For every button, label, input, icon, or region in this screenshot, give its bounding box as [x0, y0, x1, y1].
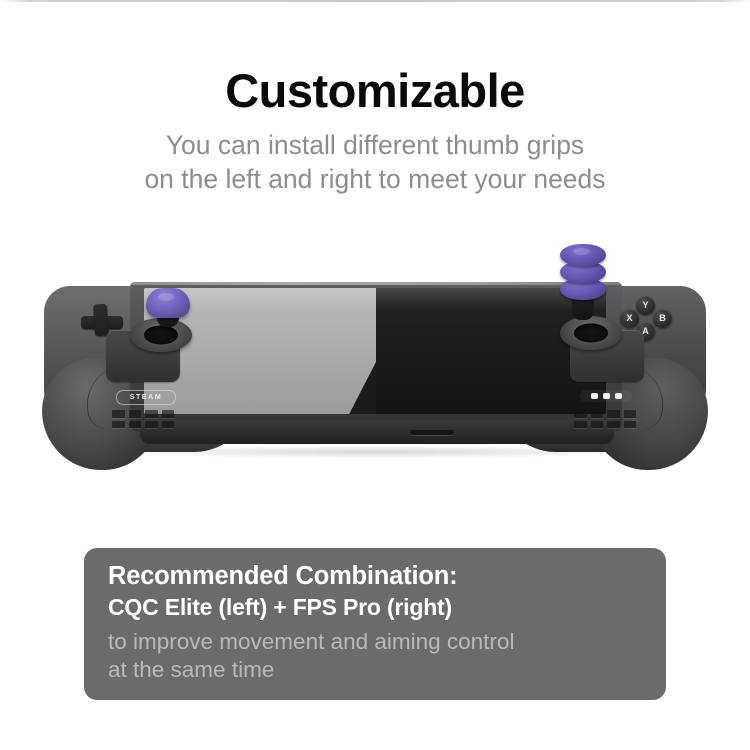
subtitle-line-2: on the left and right to meet your needs — [0, 163, 750, 197]
device-illustration: STEAM Y X B A — [0, 232, 750, 502]
recommendation-panel: Recommended Combination: CQC Elite (left… — [84, 548, 666, 700]
right-thumb-grip-fps-pro[interactable] — [560, 244, 606, 324]
button-y[interactable]: Y — [636, 296, 655, 315]
button-b[interactable]: B — [653, 309, 672, 328]
page-title: Customizable — [0, 66, 750, 115]
screen-housing-highlight — [132, 282, 620, 285]
screen-glare — [144, 288, 606, 310]
recommendation-note: to improve movement and aiming control a… — [108, 628, 666, 684]
top-divider — [0, 0, 750, 2]
left-thumb-grip-cqc-elite[interactable] — [146, 288, 190, 328]
page-subtitle: You can install different thumb grips on… — [0, 129, 750, 197]
subtitle-line-1: You can install different thumb grips — [0, 129, 750, 163]
header-block: Customizable You can install different t… — [0, 66, 750, 197]
steam-button[interactable]: STEAM — [116, 390, 176, 405]
left-speaker-grille-icon — [112, 410, 174, 428]
left-stick-well — [144, 326, 178, 345]
vent-slot-icon — [410, 430, 454, 435]
steam-button-label: STEAM — [130, 394, 163, 401]
product-feature-page: Customizable You can install different t… — [0, 0, 750, 750]
device-shadow — [96, 446, 656, 458]
status-led-indicators — [580, 390, 632, 402]
right-grip-tier-1 — [560, 244, 606, 266]
recommendation-note-line-2: at the same time — [108, 656, 666, 684]
recommendation-combination: CQC Elite (left) + FPS Pro (right) — [108, 593, 666, 621]
device-bottom-lip — [140, 420, 614, 444]
right-stick-well — [574, 324, 608, 343]
recommendation-note-line-1: to improve movement and aiming control — [108, 628, 666, 656]
device-screen — [144, 288, 606, 414]
left-grip-dome — [146, 288, 190, 318]
device-body: STEAM Y X B A — [44, 282, 706, 452]
recommendation-title: Recommended Combination: — [108, 561, 666, 592]
right-speaker-grille-icon — [574, 410, 636, 428]
button-x[interactable]: X — [620, 309, 639, 328]
